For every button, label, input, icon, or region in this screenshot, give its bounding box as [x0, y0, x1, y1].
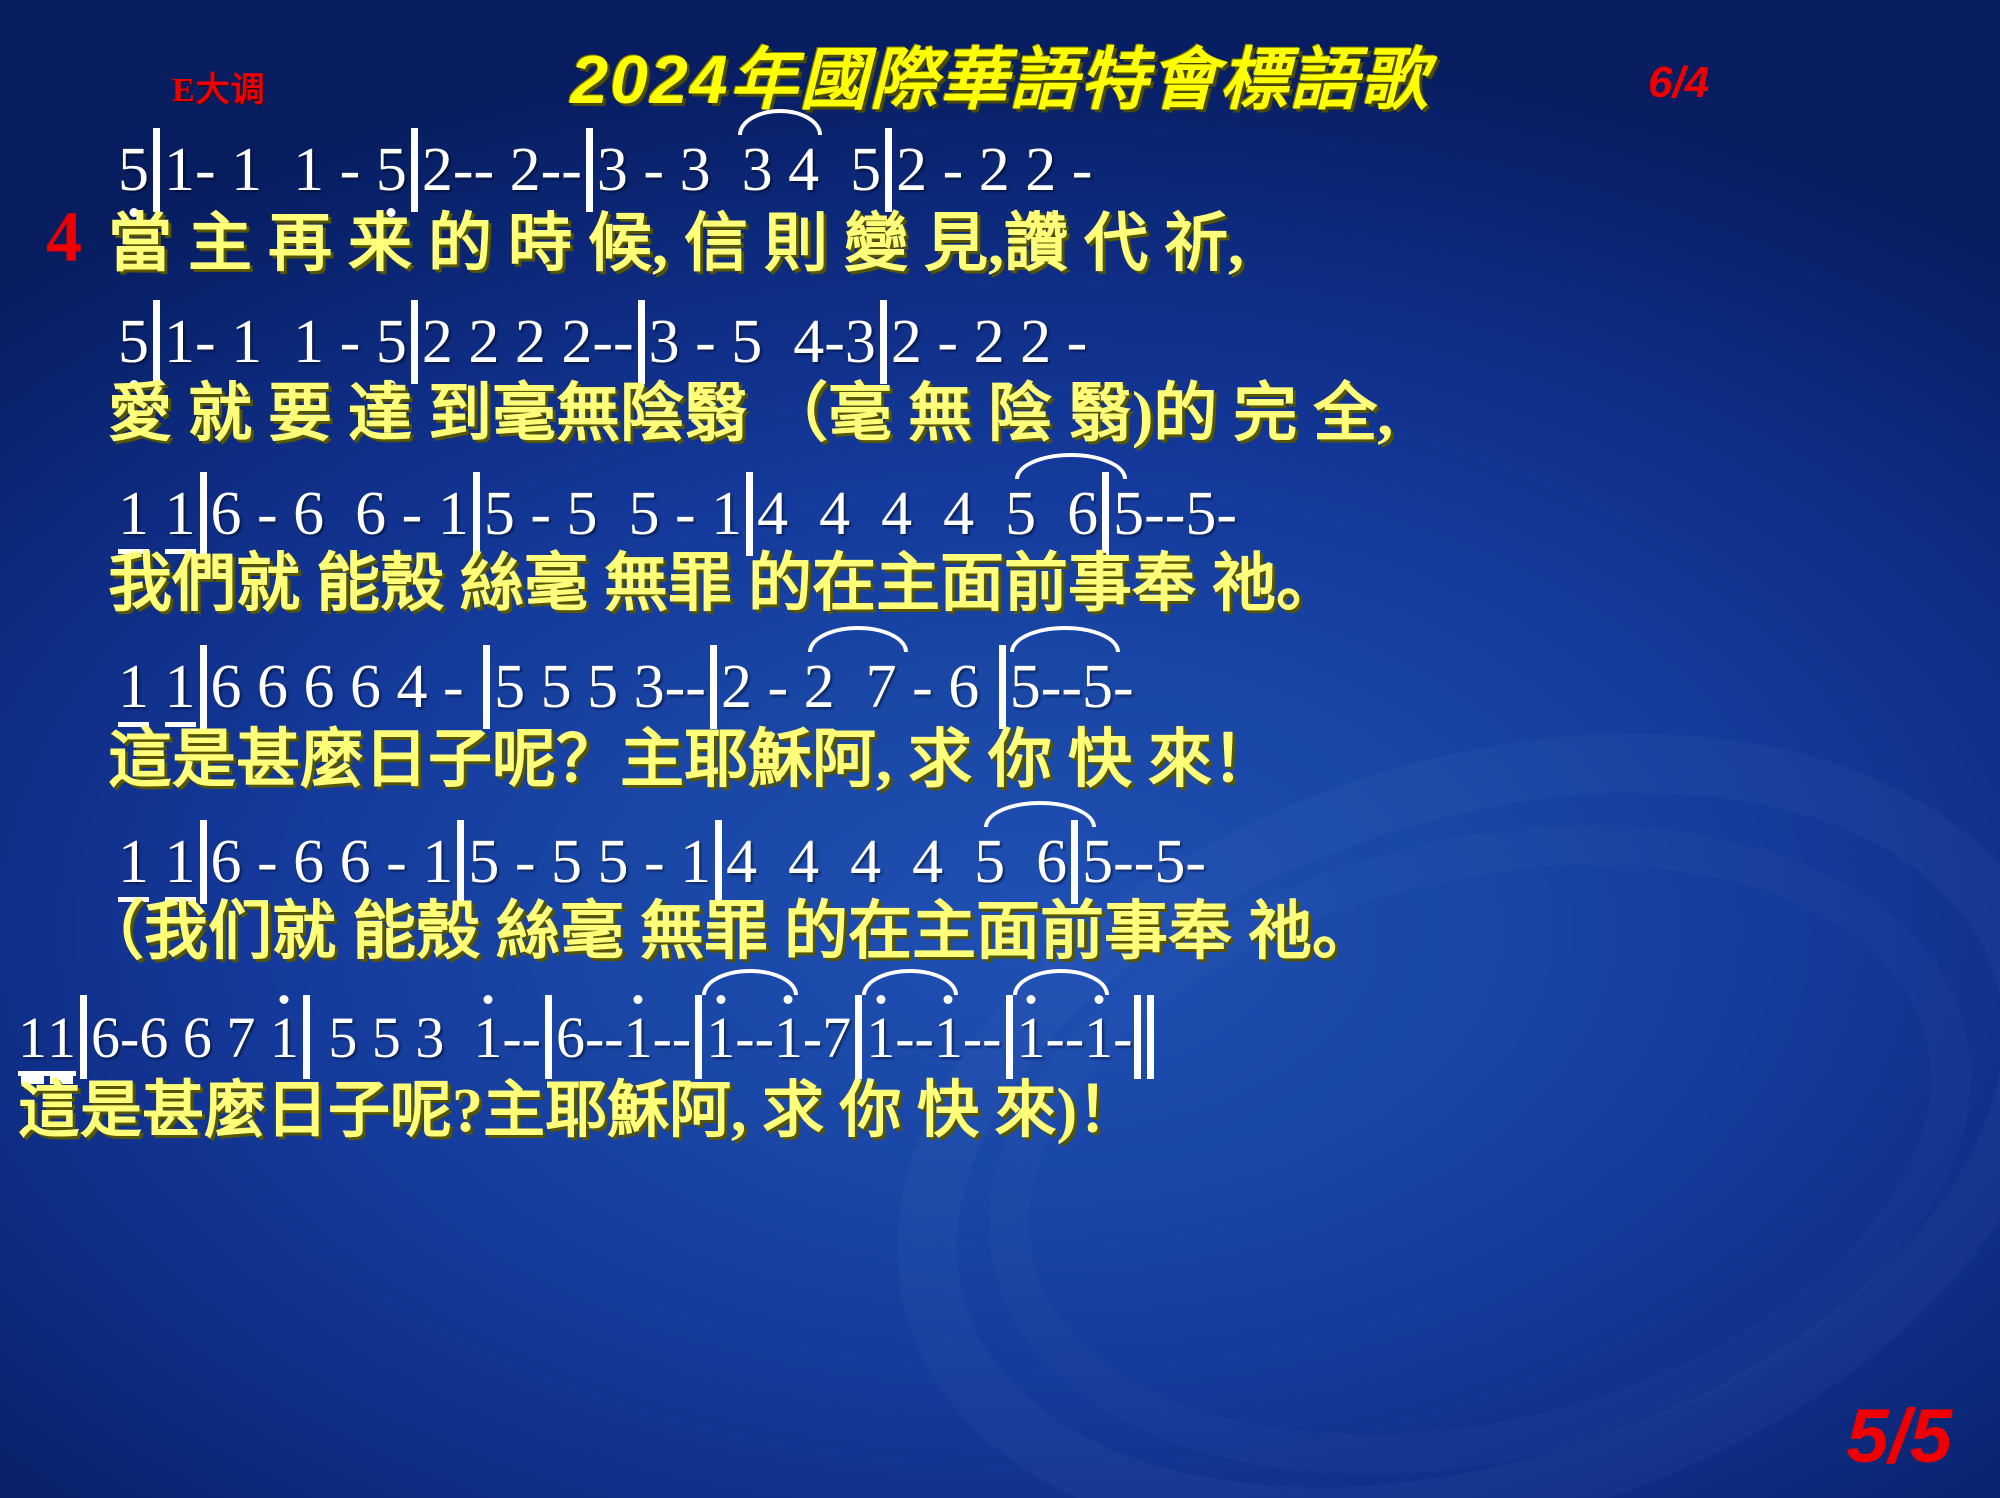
note-token: 5 [328, 1009, 357, 1067]
barline-icon [80, 995, 87, 1079]
note-token: - [340, 311, 361, 373]
note-token: 1 [165, 656, 196, 727]
slur-arc [984, 801, 1096, 827]
note-token: - [530, 483, 551, 545]
barline-icon [746, 472, 753, 556]
slide-canvas: E大调 2024年國際華語特會標語歌 6/4 4 5/5 51- 1 1 - 5… [0, 0, 2000, 1498]
note-token: 1 [1017, 1009, 1046, 1067]
note-token: 2 [891, 311, 922, 373]
note-token: 3 [415, 1009, 444, 1067]
note-token: 1 [165, 831, 196, 902]
note-token: 5 [118, 311, 149, 373]
note-token: 6 [304, 656, 335, 718]
barline-icon [695, 995, 702, 1079]
barline-icon [1006, 995, 1013, 1079]
note-token: 1 [680, 831, 711, 893]
note-token: 7 [822, 1009, 851, 1067]
note-token: 4 [912, 831, 943, 893]
note-token: -- [1046, 1009, 1085, 1067]
note-token: 4 [726, 831, 757, 893]
lyrics-system-3: 我們就 能殼 絲毫 無罪 的在主面前事奉 祂。 [0, 552, 2000, 616]
note-token: 5 [566, 483, 597, 545]
note-token: - [644, 831, 665, 893]
barline-icon [638, 300, 645, 384]
note-token: 5 [468, 831, 499, 893]
note-token: 1 [473, 1009, 502, 1067]
barline-icon [153, 300, 160, 384]
staff-notes-system-6: 116-6 6 7 1 5 5 3 1--6--1--1--1-71--1--1… [0, 995, 2000, 1079]
note-token: 2 [422, 311, 453, 373]
note-token: 7 [866, 656, 897, 718]
note-token: 1 [164, 139, 195, 201]
note-token: -- [895, 1009, 934, 1067]
note-token: 3 [742, 139, 773, 201]
note-token: 1 [934, 1009, 963, 1067]
final-double-barline-icon [1134, 995, 1141, 1079]
note-token: 6 [293, 483, 324, 545]
note-token: -- [963, 1009, 1002, 1067]
note-token: 2-- [422, 139, 494, 201]
note-token: 6 [211, 656, 242, 718]
note-token: - [402, 483, 423, 545]
note-token: 2 [1025, 139, 1056, 201]
barline-icon [483, 645, 490, 729]
note-token: 2 [804, 656, 835, 718]
note-token: - [695, 311, 716, 373]
note-token: 5 [850, 139, 881, 201]
note-token: 2 [721, 656, 752, 718]
note-token: 6 [91, 1009, 120, 1067]
barline-icon [200, 472, 207, 556]
lyrics-system-2: 愛 就 要 達 到毫無陰翳 （毫 無 陰 翳)的 完 全, [0, 382, 2000, 446]
note-token: -- [653, 1009, 692, 1067]
note-token: 5 [541, 656, 572, 718]
note-token: 2 [979, 139, 1010, 201]
note-token: 6 [139, 1009, 168, 1067]
note-token: 6 [257, 656, 288, 718]
note-token: 6 [1067, 483, 1098, 545]
note-token: 1 [1084, 1009, 1113, 1067]
barline-icon [880, 300, 887, 384]
note-token: 1 [438, 483, 469, 545]
note-token: 6 [211, 831, 242, 893]
note-token: 5 [551, 831, 582, 893]
note-token: 5--5- [1010, 656, 1134, 718]
note-token: - [257, 483, 278, 545]
note-token: 6 [355, 483, 386, 545]
note-token: 5 [628, 483, 659, 545]
note-token: 3 [649, 311, 680, 373]
note-token: - [943, 139, 964, 201]
note-token: 5--5- [1082, 831, 1206, 893]
note-token: - [340, 139, 361, 201]
note-token: 5 [1005, 483, 1036, 545]
note-token: 5 [118, 139, 149, 201]
barline-icon [885, 128, 892, 212]
slur-arc [808, 626, 908, 652]
slur-arc [862, 969, 958, 995]
note-token: - [803, 1009, 822, 1067]
slur-arc [1015, 453, 1127, 479]
note-token: - [824, 311, 845, 373]
staff-notes-system-3: 1 16 - 6 6 - 15 - 5 5 - 14 4 4 4 5 65--5… [0, 472, 2000, 556]
note-token: - [643, 139, 664, 201]
barline-icon [855, 995, 862, 1079]
lyrics-system-5: （我们就 能殼 絲毫 無罪 的在主面前事奉 祂。 [0, 900, 2000, 964]
note-token: 1 [293, 311, 324, 373]
staff-notes-system-4: 1 16 6 6 6 4 - 5 5 5 3--2 - 2 7 - 6 5--5… [0, 645, 2000, 729]
note-token: 5 [731, 311, 762, 373]
note-token: - [912, 656, 933, 718]
barline-icon [200, 820, 207, 904]
note-token: 4 [788, 831, 819, 893]
note-token: -- [665, 656, 706, 718]
slur-arc [1010, 626, 1120, 652]
note-token: 3 [597, 139, 628, 201]
note-token: 5 [974, 831, 1005, 893]
note-token: 4 [819, 483, 850, 545]
note-token: 5 [376, 311, 407, 373]
note-token: 1 [231, 139, 262, 201]
note-token: 6 [556, 1009, 585, 1067]
barline-icon [1102, 472, 1109, 556]
note-token: 4 [850, 831, 881, 893]
note-token: 1 [293, 139, 324, 201]
note-token: 2 [974, 311, 1005, 373]
note-token: 6 [183, 1009, 212, 1067]
lyrics-system-1: 當 主 再 来 的 時 候, 信 則 變 見,讚 代 祈, [0, 212, 2000, 276]
staff-notes-system-2: 51- 1 1 - 52 2 2 2--3 - 5 4-32 - 2 2 - [0, 300, 2000, 384]
note-token: 1 [624, 1009, 653, 1067]
note-token: 1 [706, 1009, 735, 1067]
note-token: 3 [680, 139, 711, 201]
barline-icon [411, 300, 418, 384]
note-token: - [443, 656, 464, 718]
note-token: 6 [948, 656, 979, 718]
note-token: 2-- [510, 139, 582, 201]
barline-icon [715, 820, 722, 904]
note-token: - [1067, 311, 1088, 373]
note-token: 1 [164, 311, 195, 373]
note-token: 2 [515, 311, 546, 373]
barline-icon [200, 645, 207, 729]
note-token: - [195, 139, 216, 201]
note-token: 6 [211, 483, 242, 545]
note-token: 4 [397, 656, 428, 718]
barline-icon [586, 128, 593, 212]
note-token: 6 [340, 831, 371, 893]
note-token: 1 [270, 1009, 299, 1067]
note-token: - [120, 1009, 139, 1067]
barline-icon [411, 128, 418, 212]
barline-icon [153, 128, 160, 212]
note-token: 5 [484, 483, 515, 545]
barline-icon [1071, 820, 1078, 904]
note-token: 7 [226, 1009, 255, 1067]
note-token: 5 [597, 831, 628, 893]
note-token: 1 [231, 311, 262, 373]
note-token: 2 [468, 311, 499, 373]
note-token: -- [502, 1009, 541, 1067]
note-token: 5--5- [1113, 483, 1237, 545]
note-token: - [937, 311, 958, 373]
note-token: - [195, 311, 216, 373]
time-signature-label: 6/4 [1648, 58, 1709, 108]
note-token: 1 [118, 483, 149, 554]
note-token: - [767, 656, 788, 718]
note-token: 1 [165, 483, 196, 554]
barline-icon [457, 820, 464, 904]
note-token: 3 [845, 311, 876, 373]
note-token: 5 [587, 656, 618, 718]
note-token: 1 [866, 1009, 895, 1067]
note-token: 5 [372, 1009, 401, 1067]
note-token: 4 [757, 483, 788, 545]
note-token: 4 [788, 139, 819, 201]
slur-arc [1013, 969, 1109, 995]
note-token: 4 [943, 483, 974, 545]
note-token: - [515, 831, 536, 893]
staff-notes-system-1: 51- 1 1 - 52-- 2--3 - 3 3 4 52 - 2 2 - [0, 128, 2000, 212]
barline-icon [473, 472, 480, 556]
barline-icon [710, 645, 717, 729]
note-token: -- [585, 1009, 624, 1067]
note-token: 2 [1020, 311, 1051, 373]
note-token: 6 [350, 656, 381, 718]
note-token: 1 [118, 831, 149, 902]
note-token: 4 [793, 311, 824, 373]
note-token: 4 [881, 483, 912, 545]
note-token: 6 [293, 831, 324, 893]
note-token: 6 [1036, 831, 1067, 893]
note-token: - [386, 831, 407, 893]
note-token: 1 [422, 831, 453, 893]
barline-icon [303, 995, 310, 1079]
page-number-badge: 5/5 [1846, 1393, 1952, 1480]
note-token: 3 [634, 656, 665, 718]
note-token: 1 [774, 1009, 803, 1067]
note-token: 1 [118, 656, 149, 727]
barline-icon [999, 645, 1006, 729]
note-token: 1 [47, 1009, 76, 1076]
note-token: - [1072, 139, 1093, 201]
note-token: -- [735, 1009, 774, 1067]
note-token: - [1113, 1009, 1132, 1067]
note-token: 5 [376, 139, 407, 201]
note-token: 2-- [561, 311, 633, 373]
note-token: 5 [494, 656, 525, 718]
lyrics-system-6: 這是甚麼日子呢?主耶穌阿, 求 你 快 來)！ [0, 1080, 2000, 1142]
note-token: 2 [896, 139, 927, 201]
barline-icon [545, 995, 552, 1079]
note-token: 1 [711, 483, 742, 545]
slur-arc [702, 969, 798, 995]
note-token: - [675, 483, 696, 545]
note-token: - [257, 831, 278, 893]
note-token: 1 [18, 1009, 47, 1076]
staff-notes-system-5: 1 16 - 6 6 - 15 - 5 5 - 14 4 4 4 5 65--5… [0, 820, 2000, 904]
lyrics-system-4: 這是甚麼日子呢？主耶穌阿, 求 你 快 來！ [0, 728, 2000, 792]
